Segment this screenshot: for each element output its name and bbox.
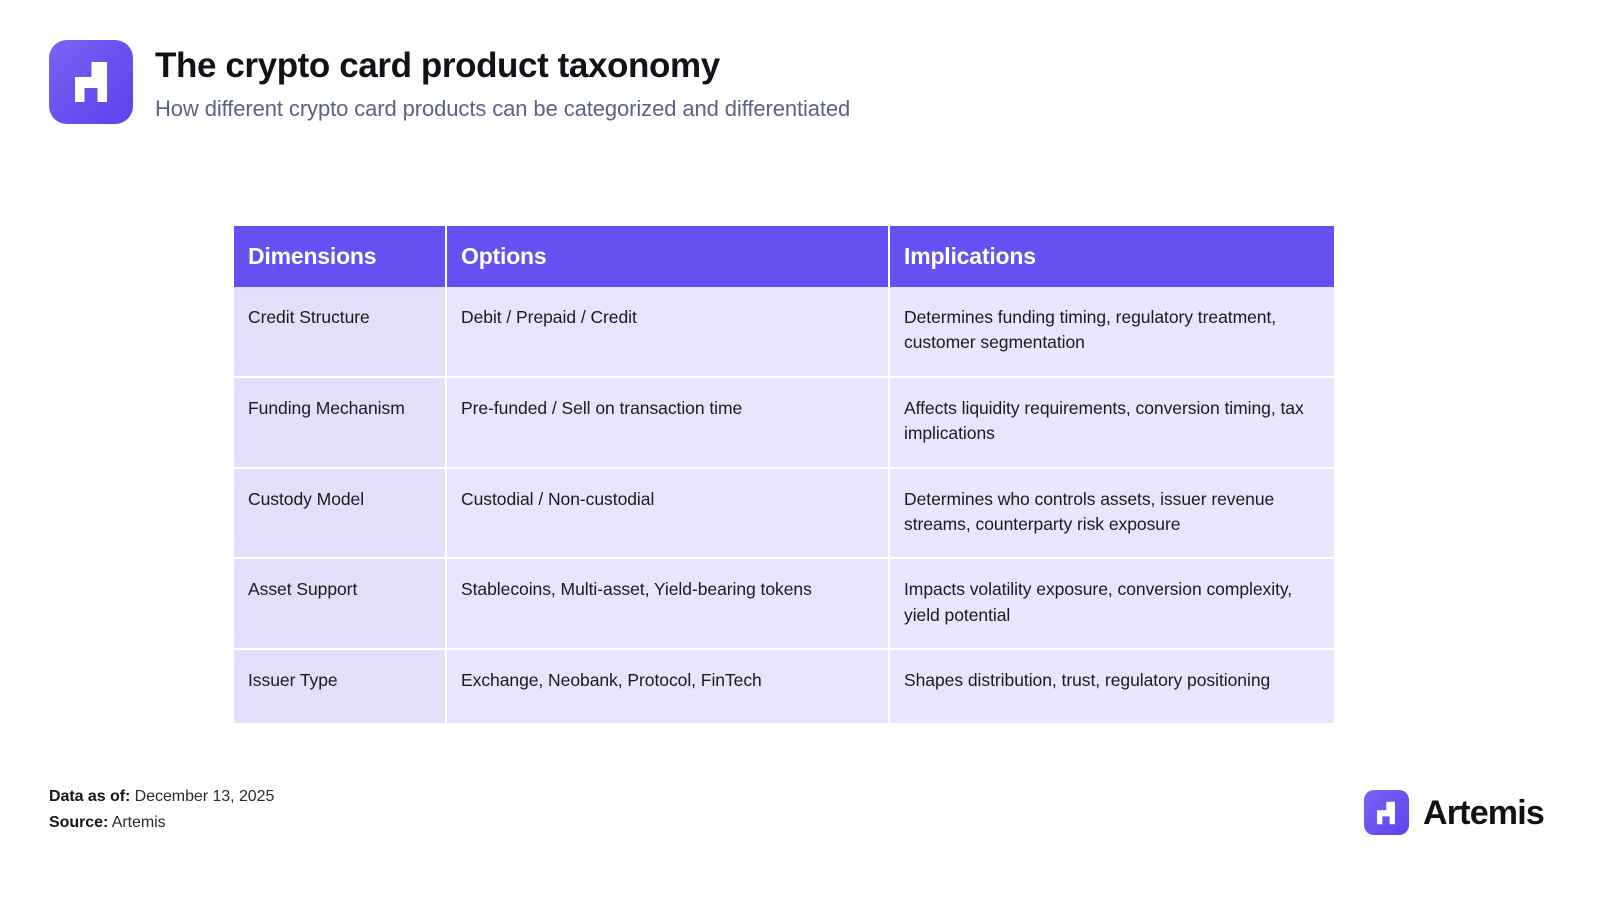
table-row: Custody Model Custodial / Non-custodial …	[234, 469, 1334, 560]
table-header-row: Dimensions Options Implications	[234, 226, 1334, 287]
cell-options: Custodial / Non-custodial	[447, 469, 890, 560]
cell-dimension: Issuer Type	[234, 650, 447, 723]
artemis-a-logo-icon	[1364, 790, 1409, 835]
artemis-a-logo-icon	[49, 40, 133, 124]
cell-implications: Shapes distribution, trust, regulatory p…	[890, 650, 1334, 723]
infographic-page: The crypto card product taxonomy How dif…	[0, 0, 1600, 900]
table-body: Credit Structure Debit / Prepaid / Credi…	[234, 287, 1334, 723]
brand-wordmark: Artemis	[1423, 796, 1544, 830]
data-as-of-value: December 13, 2025	[135, 788, 275, 805]
table-header: Dimensions Options Implications	[234, 226, 1334, 287]
cell-options: Exchange, Neobank, Protocol, FinTech	[447, 650, 890, 723]
cell-dimension: Funding Mechanism	[234, 378, 447, 469]
footer-brand: Artemis	[1364, 790, 1544, 835]
table-row: Issuer Type Exchange, Neobank, Protocol,…	[234, 650, 1334, 723]
data-as-of-label: Data as of:	[49, 788, 130, 805]
column-header-options: Options	[447, 226, 890, 287]
page-header: The crypto card product taxonomy How dif…	[49, 40, 850, 124]
page-title: The crypto card product taxonomy	[155, 46, 850, 86]
cell-implications: Affects liquidity requirements, conversi…	[890, 378, 1334, 469]
cell-dimension: Custody Model	[234, 469, 447, 560]
source-value: Artemis	[112, 814, 166, 831]
column-header-implications: Implications	[890, 226, 1334, 287]
cell-implications: Determines funding timing, regulatory tr…	[890, 287, 1334, 378]
footer-metadata: Data as of: December 13, 2025 Source: Ar…	[49, 784, 274, 836]
cell-implications: Determines who controls assets, issuer r…	[890, 469, 1334, 560]
data-as-of-row: Data as of: December 13, 2025	[49, 784, 274, 810]
header-text-group: The crypto card product taxonomy How dif…	[155, 40, 850, 123]
page-subtitle: How different crypto card products can b…	[155, 96, 850, 122]
table-row: Credit Structure Debit / Prepaid / Credi…	[234, 287, 1334, 378]
cell-dimension: Credit Structure	[234, 287, 447, 378]
table-row: Asset Support Stablecoins, Multi-asset, …	[234, 559, 1334, 650]
cell-options: Debit / Prepaid / Credit	[447, 287, 890, 378]
table-row: Funding Mechanism Pre-funded / Sell on t…	[234, 378, 1334, 469]
source-label: Source:	[49, 814, 108, 831]
cell-options: Pre-funded / Sell on transaction time	[447, 378, 890, 469]
column-header-dimensions: Dimensions	[234, 226, 447, 287]
taxonomy-table: Dimensions Options Implications Credit S…	[234, 226, 1334, 723]
cell-dimension: Asset Support	[234, 559, 447, 650]
cell-implications: Impacts volatility exposure, conversion …	[890, 559, 1334, 650]
cell-options: Stablecoins, Multi-asset, Yield-bearing …	[447, 559, 890, 650]
taxonomy-table-container: Dimensions Options Implications Credit S…	[234, 226, 1334, 723]
source-row: Source: Artemis	[49, 810, 274, 836]
